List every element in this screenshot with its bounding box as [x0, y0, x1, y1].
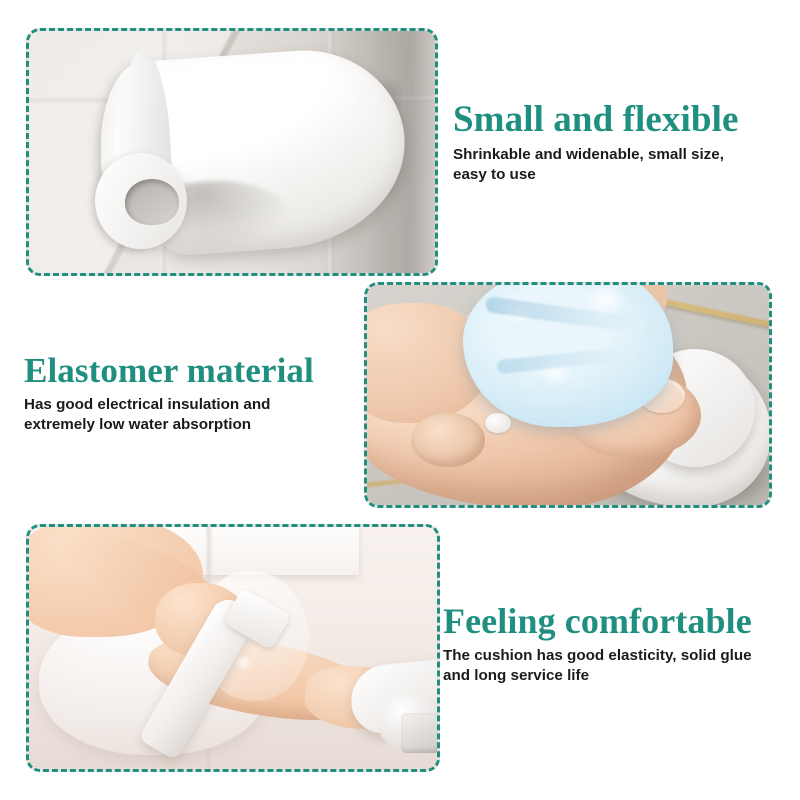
- body-feeling-line1: The cushion has good elasticity, solid g…: [443, 646, 793, 666]
- photo-shower-wall-mounted-pedal: [26, 28, 438, 276]
- photo-inner-3: [29, 527, 437, 769]
- heel: [411, 413, 485, 467]
- feature-text-feeling-comfortable: Feeling comfortable The cushion has good…: [443, 602, 793, 686]
- photo-inner-2: [367, 285, 769, 505]
- photo-inner-1: [29, 31, 435, 273]
- heading-elastomer-material: Elastomer material: [24, 352, 364, 389]
- photo-woman-shaving-leg: [26, 524, 440, 772]
- body-feeling-line2: and long service life: [443, 666, 793, 686]
- heading-feeling-comfortable: Feeling comfortable: [443, 602, 793, 640]
- body-small-flexible-line1: Shrinkable and widenable, small size,: [453, 145, 783, 165]
- water-droplet: [485, 413, 511, 433]
- blue-mesh-sponge: [463, 285, 673, 427]
- sponge-fold-2: [497, 346, 638, 375]
- sponge-fold-1: [485, 296, 646, 334]
- body-small-flexible-line2: easy to use: [453, 165, 783, 185]
- body-elastomer-line2: extremely low water absorption: [24, 415, 364, 435]
- feature-text-elastomer-material: Elastomer material Has good electrical i…: [24, 352, 364, 435]
- pedal-wall-mount-3: [401, 713, 437, 753]
- feature-text-small-flexible: Small and flexible Shrinkable and widena…: [453, 100, 783, 185]
- photo-foot-on-pedal-with-sponge: [364, 282, 772, 508]
- body-elastomer-line1: Has good electrical insulation and: [24, 395, 364, 415]
- infographic-canvas: Small and flexible Shrinkable and widena…: [0, 0, 800, 800]
- heading-small-flexible: Small and flexible: [453, 100, 783, 139]
- suction-cup-cavity: [125, 179, 179, 225]
